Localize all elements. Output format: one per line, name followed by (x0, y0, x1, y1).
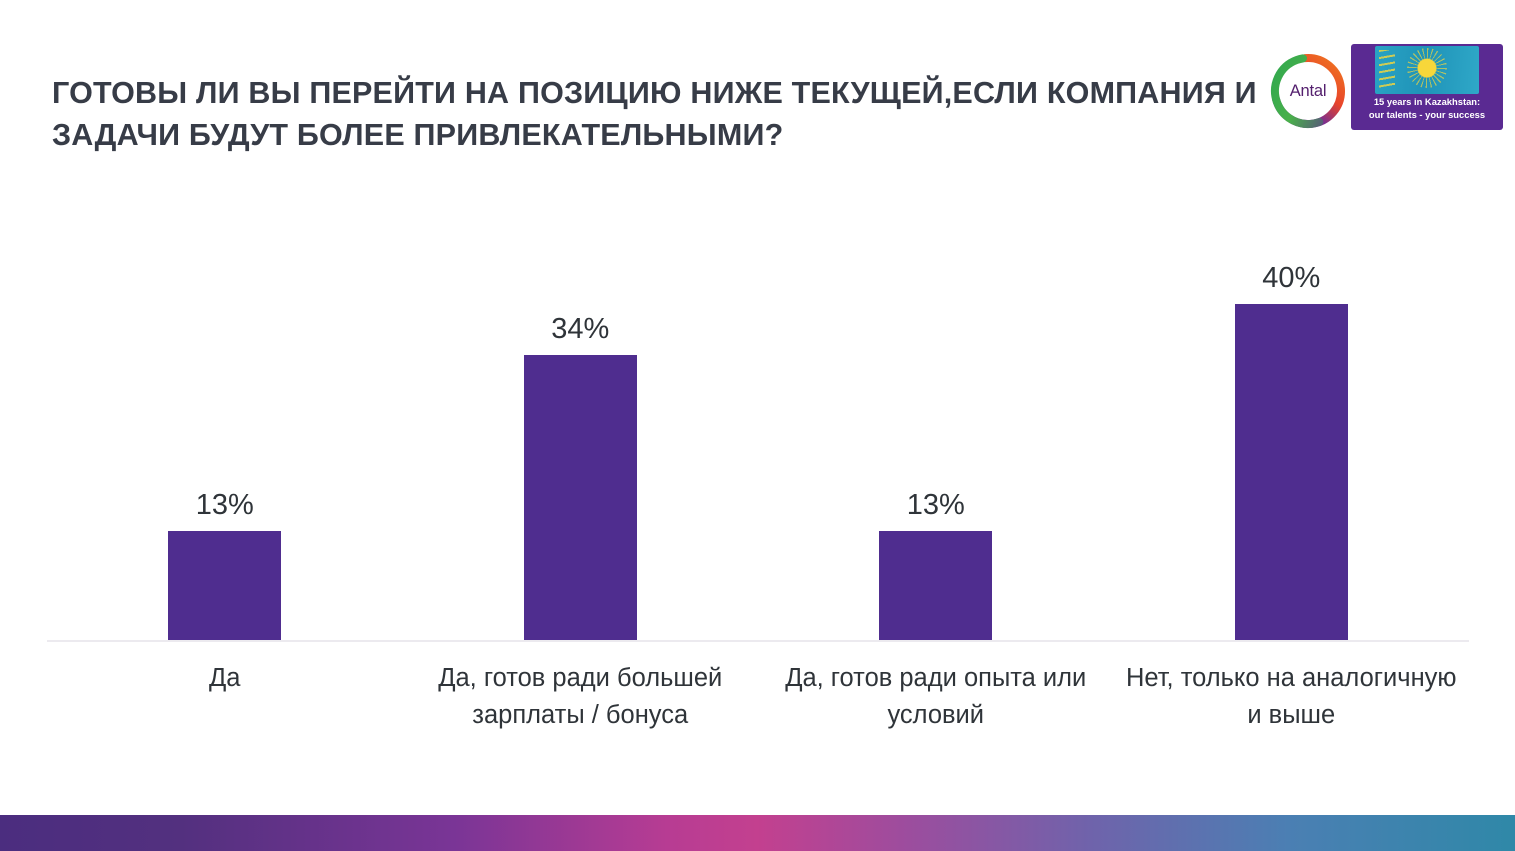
slide: ГОТОВЫ ЛИ ВЫ ПЕРЕЙТИ НА ПОЗИЦИЮ НИЖЕ ТЕК… (0, 0, 1515, 851)
bar-rect[interactable] (524, 355, 637, 641)
category-label: Нет, только на аналогичную и выше (1121, 660, 1461, 733)
bar-value-label: 13% (196, 489, 254, 522)
category-label: Да, готов ради большей зарплаты / бонуса (415, 660, 745, 733)
bar-value-label: 34% (551, 313, 609, 346)
bar-rect[interactable] (168, 531, 281, 641)
bar-rect[interactable] (879, 531, 992, 641)
bar-value-label: 13% (907, 489, 965, 522)
plot-area: 13%34%13%40% (47, 205, 1469, 641)
bar-group: 34% (510, 205, 651, 641)
category-axis-line (47, 640, 1469, 642)
category-label: Да, готов ради опыта или условий (771, 660, 1101, 733)
bar-chart: 13%34%13%40% ДаДа, готов ради большей за… (0, 0, 1515, 810)
bar-group: 13% (154, 205, 295, 641)
category-axis-labels: ДаДа, готов ради большей зарплаты / бону… (47, 660, 1469, 810)
category-label: Да (105, 660, 345, 697)
bar-rect[interactable] (1235, 304, 1348, 641)
footer-gradient-bar (0, 815, 1515, 851)
bar-value-label: 40% (1262, 262, 1320, 295)
bar-group: 40% (1221, 205, 1362, 641)
bar-group: 13% (865, 205, 1006, 641)
